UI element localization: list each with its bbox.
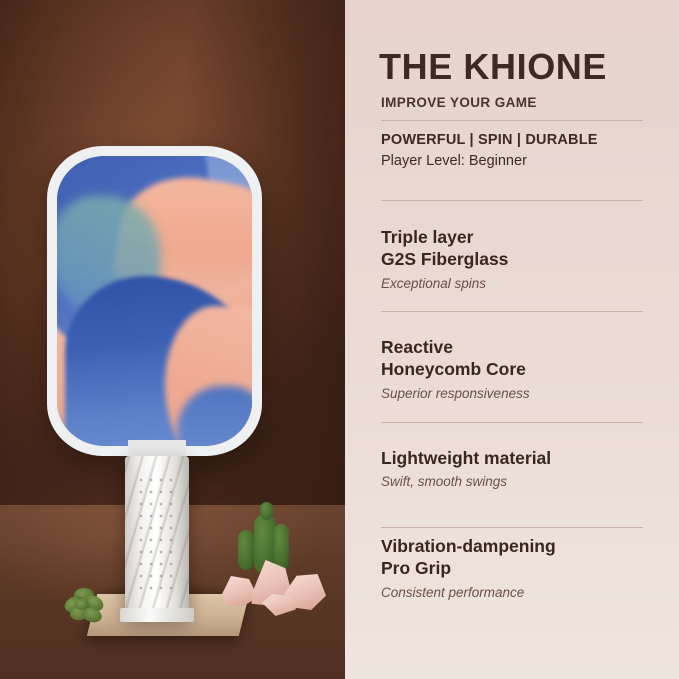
feature-title: Reactive Honeycomb Core (381, 336, 651, 381)
feature-title: Lightweight material (381, 447, 651, 469)
product-title: THE KHIONE (379, 46, 607, 88)
product-photo (0, 0, 345, 679)
feature-subtitle: Superior responsiveness (381, 386, 651, 401)
product-subtitle: IMPROVE YOUR GAME (381, 95, 537, 110)
feature-subtitle: Swift, smooth swings (381, 474, 651, 489)
divider-5 (381, 527, 643, 528)
grip-perforation-texture (137, 476, 177, 596)
paddle-face-artwork (57, 156, 252, 446)
feature-subtitle: Consistent performance (381, 585, 651, 600)
divider-3 (381, 311, 643, 312)
feature-item: Reactive Honeycomb Core Superior respons… (381, 336, 651, 401)
feature-item: Triple layer G2S Fiberglass Exceptional … (381, 226, 651, 291)
grip-butt-cap (120, 608, 194, 622)
paddle-grip (125, 456, 189, 616)
feature-item: Lightweight material Swift, smooth swing… (381, 447, 651, 489)
rose-quartz-prop (222, 552, 334, 622)
feature-title: Triple layer G2S Fiberglass (381, 226, 651, 271)
spec-panel: THE KHIONE IMPROVE YOUR GAME POWERFUL | … (345, 0, 679, 679)
divider-1 (381, 120, 643, 121)
product-infographic: THE KHIONE IMPROVE YOUR GAME POWERFUL | … (0, 0, 679, 679)
product-player-level: Player Level: Beginner (381, 153, 527, 169)
feature-title: Vibration-dampening Pro Grip (381, 535, 651, 580)
divider-2 (381, 200, 643, 201)
succulent-prop (62, 588, 108, 630)
feature-subtitle: Exceptional spins (381, 276, 651, 291)
divider-4 (381, 422, 643, 423)
pickleball-paddle (47, 146, 262, 456)
feature-item: Vibration-dampening Pro Grip Consistent … (381, 535, 651, 600)
product-attributes: POWERFUL | SPIN | DURABLE (381, 132, 598, 148)
